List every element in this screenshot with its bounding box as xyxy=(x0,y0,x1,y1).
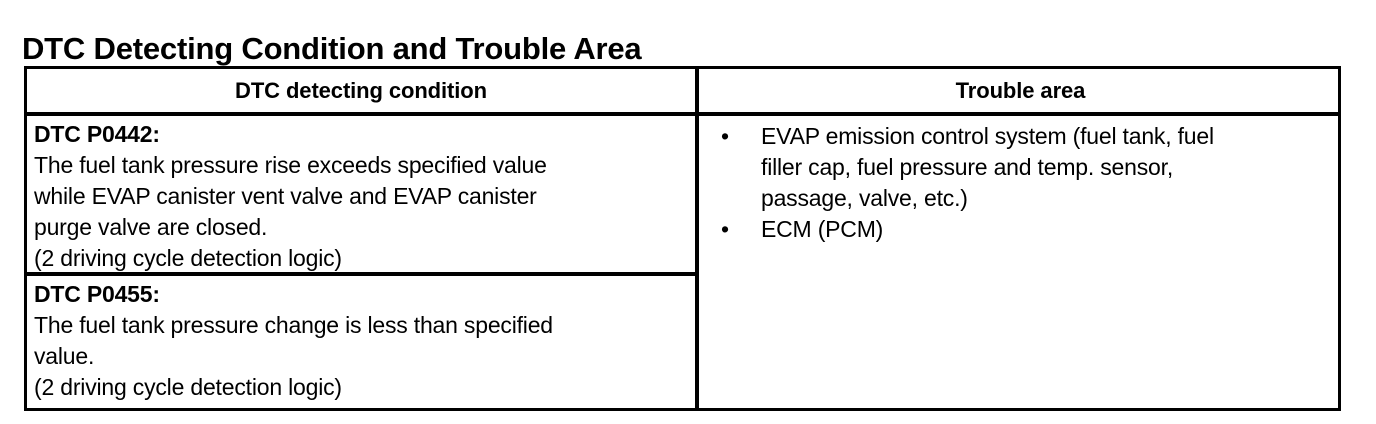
list-item: • ECM (PCM) xyxy=(713,214,1332,245)
table-row: DTC P0455: The fuel tank pressure change… xyxy=(27,276,699,408)
list-item-line: filler cap, fuel pressure and temp. sens… xyxy=(761,152,1332,183)
list-item-line: passage, valve, etc.) xyxy=(761,183,1332,214)
list-item-line: EVAP emission control system (fuel tank,… xyxy=(761,121,1332,152)
list-item: • EVAP emission control system (fuel tan… xyxy=(713,121,1332,214)
dtc-description-line: The fuel tank pressure change is less th… xyxy=(34,310,691,341)
column-header-dtc-detecting-condition: DTC detecting condition xyxy=(27,69,699,112)
dtc-description-line: The fuel tank pressure rise exceeds spec… xyxy=(34,150,691,181)
column-header-trouble-area: Trouble area xyxy=(703,69,1338,112)
dtc-description-line: while EVAP canister vent valve and EVAP … xyxy=(34,181,691,212)
dtc-code-label: DTC P0442: xyxy=(34,119,691,150)
page-title: DTC Detecting Condition and Trouble Area xyxy=(22,29,641,69)
trouble-area-list: • EVAP emission control system (fuel tan… xyxy=(703,116,1338,245)
table-row: DTC P0442: The fuel tank pressure rise e… xyxy=(27,116,699,276)
column-dtc-detecting-condition: DTC P0442: The fuel tank pressure rise e… xyxy=(27,116,699,408)
table-body: DTC P0442: The fuel tank pressure rise e… xyxy=(27,116,1338,408)
dtc-condition-trouble-table: DTC detecting condition Trouble area DTC… xyxy=(24,66,1341,411)
dtc-description-line: (2 driving cycle detection logic) xyxy=(34,243,691,274)
list-item-line: ECM (PCM) xyxy=(761,214,1332,245)
dtc-table-page: DTC Detecting Condition and Trouble Area… xyxy=(0,0,1376,424)
column-trouble-area: • EVAP emission control system (fuel tan… xyxy=(703,116,1338,408)
table-header-row: DTC detecting condition Trouble area xyxy=(27,69,1338,116)
bullet-icon: • xyxy=(721,121,735,152)
bullet-icon: • xyxy=(721,214,735,245)
dtc-description-line: value. xyxy=(34,341,691,372)
dtc-code-label: DTC P0455: xyxy=(34,279,691,310)
dtc-description-line: purge valve are closed. xyxy=(34,212,691,243)
dtc-description-line: (2 driving cycle detection logic) xyxy=(34,372,691,403)
